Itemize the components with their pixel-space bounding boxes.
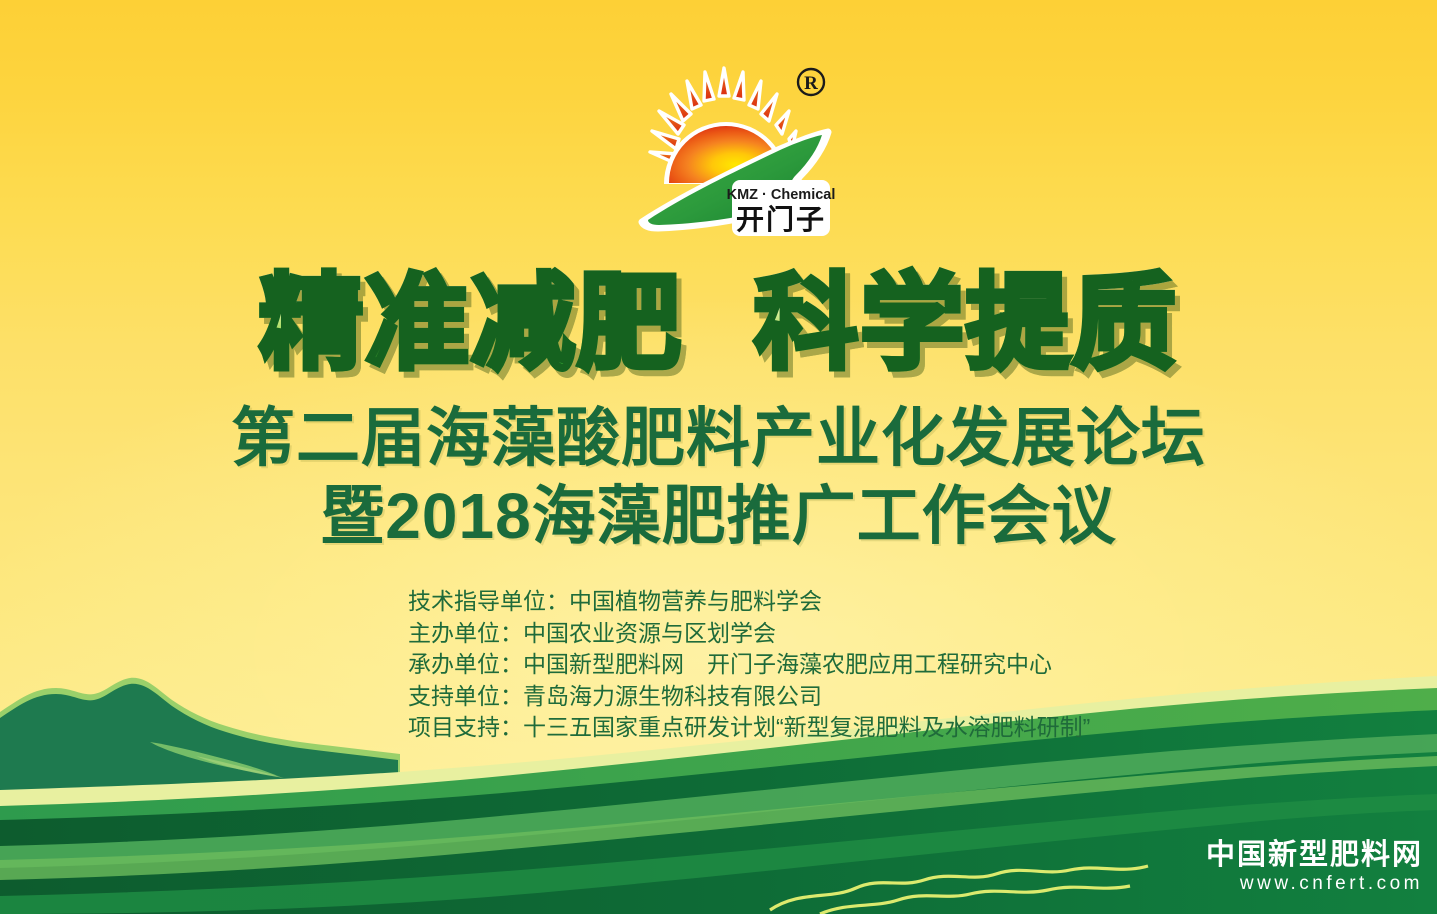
headline-right: 科学提质 bbox=[754, 268, 1178, 380]
organizer-line-supporter: 支持单位：青岛海力源生物科技有限公司 bbox=[408, 681, 1090, 713]
subtitle-block: 第二届海藻酸肥料产业化发展论坛 暨2018海藻肥推广工作会议 bbox=[0, 402, 1437, 552]
organizer-line-project-support: 项目支持：十三五国家重点研发计划“新型复混肥料及水溶肥料研制” bbox=[408, 712, 1090, 744]
watermark: 中国新型肥料网 www.cnfert.com bbox=[1206, 838, 1423, 896]
organizer-line-technical-guidance: 技术指导单位：中国植物营养与肥料学会 bbox=[408, 586, 1090, 618]
registered-trademark-icon: R bbox=[798, 69, 824, 95]
organizer-list: 技术指导单位：中国植物营养与肥料学会 主办单位：中国农业资源与区划学会 承办单位… bbox=[408, 586, 1090, 744]
watermark-site-name: 中国新型肥料网 bbox=[1206, 838, 1423, 872]
logo-brand-text: KMZ · Chemical 开门子 bbox=[727, 180, 836, 236]
watermark-url: www.cnfert.com bbox=[1206, 872, 1423, 896]
kaimenzi-logo: KMZ · Chemical 开门子 R bbox=[628, 62, 836, 242]
headline-left: 精准减肥 bbox=[259, 268, 683, 380]
subtitle-line-1: 第二届海藻酸肥料产业化发展论坛 bbox=[0, 402, 1437, 474]
organizer-line-organizer: 承办单位：中国新型肥料网 开门子海藻农肥应用工程研究中心 bbox=[408, 649, 1090, 681]
headline: 精准减肥 科学提质 bbox=[0, 268, 1437, 380]
subtitle-line-2: 暨2018海藻肥推广工作会议 bbox=[0, 480, 1437, 552]
logo-chinese-text: 开门子 bbox=[736, 204, 826, 235]
logo-latin-text: KMZ · Chemical bbox=[727, 187, 836, 203]
mountain-ridge bbox=[0, 678, 400, 790]
svg-text:R: R bbox=[804, 73, 818, 94]
conference-banner: KMZ · Chemical 开门子 R 精准减肥 科学提质 第二届海藻酸肥料产… bbox=[0, 0, 1437, 914]
organizer-line-host: 主办单位：中国农业资源与区划学会 bbox=[408, 618, 1090, 650]
